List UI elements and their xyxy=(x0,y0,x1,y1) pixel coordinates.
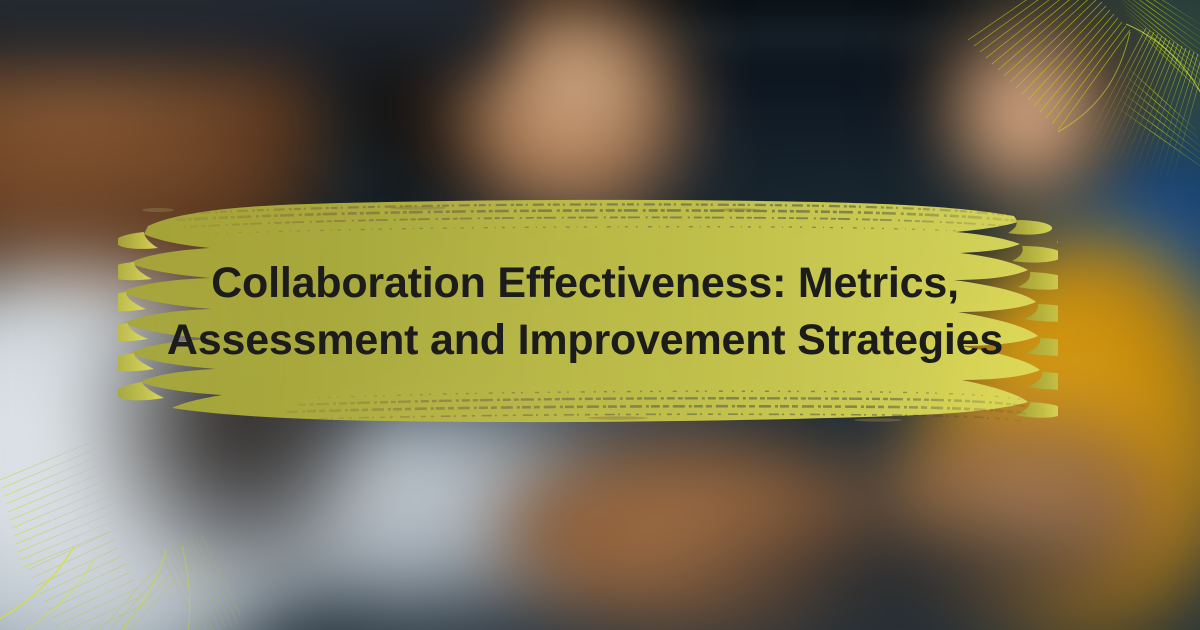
page-title: Collaboration Effectiveness: Metrics, As… xyxy=(150,255,1020,369)
social-preview-card: Collaboration Effectiveness: Metrics, As… xyxy=(0,0,1200,630)
page-title-line-2: Assessment and Improvement Strategies xyxy=(150,312,1020,369)
page-title-line-1: Collaboration Effectiveness: Metrics, xyxy=(150,255,1020,312)
